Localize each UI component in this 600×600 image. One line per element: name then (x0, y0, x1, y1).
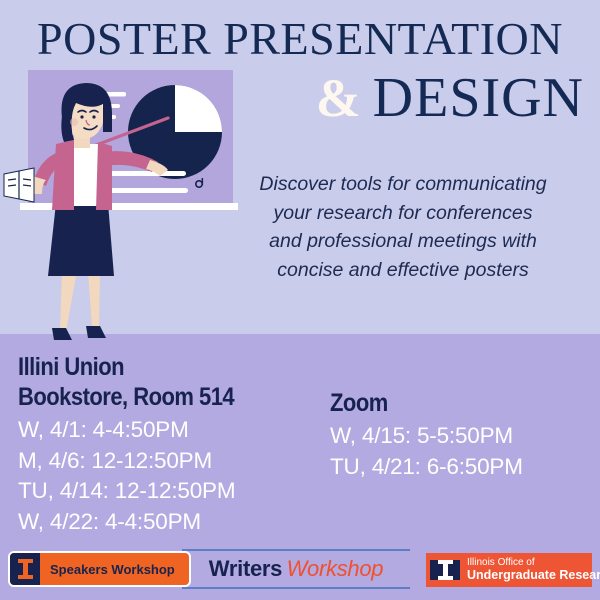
ampersand-glyph: & (316, 71, 361, 125)
session-item: TU, 4/14: 12-12:50PM (18, 476, 320, 507)
page-title: POSTER PRESENTATION (0, 14, 600, 64)
description-line-2: your research for conferences (218, 199, 588, 228)
venue-name-line-1: Illini Union (18, 352, 284, 382)
undergraduate-research-text: Illinois Office of Undergraduate Researc… (467, 558, 600, 582)
our-line-2: Undergraduate Research (467, 569, 600, 583)
description-line-4: concise and effective posters (218, 256, 588, 285)
block-i-glyph (18, 559, 33, 579)
session-list-illini-union: W, 4/1: 4-4:50PM M, 4/6: 12-12:50PM TU, … (18, 415, 320, 537)
schedule-column-illini-union: Illini Union Bookstore, Room 514 W, 4/1:… (0, 352, 320, 542)
schedule-column-zoom: Zoom W, 4/15: 5-5:50PM TU, 4/21: 6-6:50P… (320, 352, 580, 542)
block-i-stem (23, 562, 28, 576)
session-item: W, 4/15: 5-5:50PM (330, 421, 580, 452)
session-item: W, 4/22: 4-4:50PM (18, 507, 320, 538)
writers-word: Writers (209, 556, 282, 581)
venue-name-zoom: Zoom (330, 388, 550, 418)
writers-workshop-logo[interactable]: Writers Workshop (182, 549, 410, 589)
description-line-3: and professional meetings with (218, 227, 588, 256)
session-list-zoom: W, 4/15: 5-5:50PM TU, 4/21: 6-6:50PM (330, 421, 580, 482)
session-item: M, 4/6: 12-12:50PM (18, 446, 320, 477)
description-line-1: Discover tools for communicating (218, 170, 588, 199)
title-line-2: DESIGN (373, 70, 584, 126)
footer-logo-bar: Speakers Workshop Writers Workshop Illin… (0, 545, 600, 600)
presenter-illustration (0, 70, 240, 360)
speakers-workshop-label: Speakers Workshop (40, 553, 189, 585)
session-item: W, 4/1: 4-4:50PM (18, 415, 320, 446)
block-i-glyph (438, 560, 453, 580)
venue-name-line-2: Bookstore, Room 514 (18, 382, 284, 412)
schedule-block: Illini Union Bookstore, Room 514 W, 4/1:… (0, 352, 600, 542)
workshop-word: Workshop (287, 556, 384, 581)
poster-canvas: POSTER PRESENTATION & DESIGN Discover to… (0, 0, 600, 600)
illinois-i-icon (430, 560, 460, 580)
undergraduate-research-logo[interactable]: Illinois Office of Undergraduate Researc… (426, 553, 592, 587)
title-line-1: POSTER PRESENTATION (0, 14, 600, 64)
session-item: TU, 4/21: 6-6:50PM (330, 452, 580, 483)
block-i-stem (443, 563, 448, 577)
speakers-workshop-logo[interactable]: Speakers Workshop (10, 553, 189, 585)
title-line-2-group: & DESIGN (316, 70, 584, 126)
illinois-i-icon (10, 553, 40, 585)
description-block: Discover tools for communicating your re… (218, 170, 588, 284)
